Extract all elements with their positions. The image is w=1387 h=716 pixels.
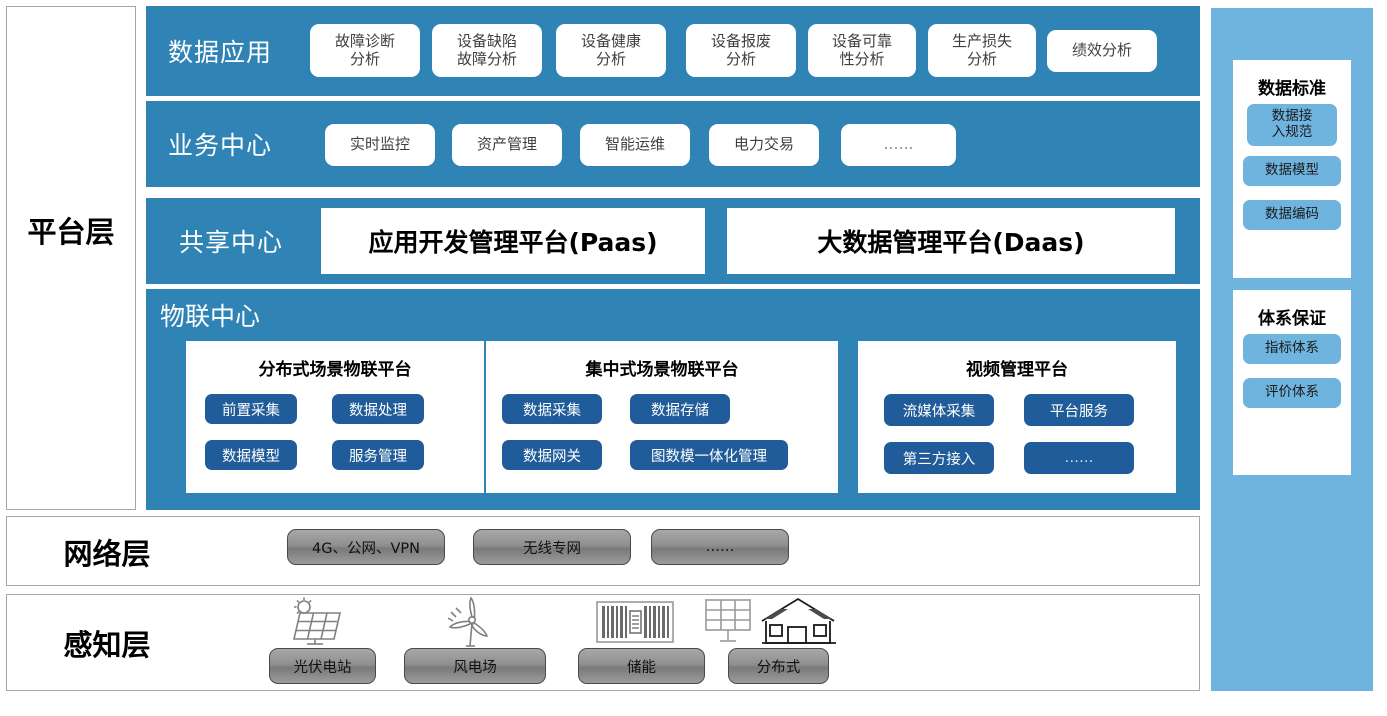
iot-chip-platform-service[interactable]: 平台服务 bbox=[1024, 394, 1134, 426]
sidebar-chip-evaluation-system[interactable]: 评价体系 bbox=[1243, 378, 1341, 408]
iot-chip-data-storage[interactable]: 数据存储 bbox=[630, 394, 730, 424]
iot-chip-data-gateway[interactable]: 数据网关 bbox=[502, 440, 602, 470]
biz-chip-smart-ops[interactable]: 智能运维 bbox=[580, 124, 690, 166]
biz-chip-asset-management[interactable]: 资产管理 bbox=[452, 124, 562, 166]
iot-chip-data-model[interactable]: 数据模型 bbox=[205, 440, 297, 470]
app-chip-equipment-health[interactable]: 设备健康 分析 bbox=[556, 24, 666, 77]
network-layer-title: 网络层 bbox=[14, 534, 200, 570]
iot-card-video: 视频管理平台 流媒体采集 平台服务 第三方接入 …… bbox=[858, 341, 1176, 493]
sidebar-chip-data-encoding[interactable]: 数据编码 bbox=[1243, 200, 1341, 230]
biz-chip-power-trading[interactable]: 电力交易 bbox=[709, 124, 819, 166]
iot-chip-third-party-access[interactable]: 第三方接入 bbox=[884, 442, 994, 474]
iot-chip-data-processing[interactable]: 数据处理 bbox=[332, 394, 424, 424]
iot-card-distributed-title: 分布式场景物联平台 bbox=[186, 355, 484, 380]
biz-chip-realtime-monitoring[interactable]: 实时监控 bbox=[325, 124, 435, 166]
app-chip-equipment-scrap[interactable]: 设备报废 分析 bbox=[686, 24, 796, 77]
iot-chip-stream-acquisition[interactable]: 流媒体采集 bbox=[884, 394, 994, 426]
iot-center-label: 物联中心 bbox=[160, 297, 380, 331]
sidebar-card-system-guarantee: 体系保证 指标体系 评价体系 bbox=[1233, 290, 1351, 475]
app-chip-fault-diagnosis[interactable]: 故障诊断 分析 bbox=[310, 24, 420, 77]
row-business-center-label: 业务中心 bbox=[146, 126, 294, 162]
sidebar-card-system-guarantee-title: 体系保证 bbox=[1233, 304, 1351, 329]
iot-chip-front-acquisition[interactable]: 前置采集 bbox=[205, 394, 297, 424]
iot-chip-video-more[interactable]: …… bbox=[1024, 442, 1134, 474]
row-data-application-label: 数据应用 bbox=[146, 33, 294, 69]
sidebar-card-data-standard-title: 数据标准 bbox=[1233, 74, 1351, 99]
iot-chip-service-management[interactable]: 服务管理 bbox=[332, 440, 424, 470]
app-chip-performance-analysis[interactable]: 绩效分析 bbox=[1047, 30, 1157, 72]
iot-chip-data-acquisition[interactable]: 数据采集 bbox=[502, 394, 602, 424]
solar-house-icon bbox=[702, 597, 844, 647]
app-chip-equipment-reliability[interactable]: 设备可靠 性分析 bbox=[808, 24, 916, 77]
iot-card-centralized: 集中式场景物联平台 数据采集 数据存储 数据网关 图数模一体化管理 bbox=[486, 341, 838, 493]
iot-card-video-title: 视频管理平台 bbox=[858, 355, 1176, 380]
app-chip-production-loss[interactable]: 生产损失 分析 bbox=[928, 24, 1036, 77]
iot-card-distributed: 分布式场景物联平台 前置采集 数据处理 数据模型 服务管理 bbox=[186, 341, 484, 493]
standards-sidebar: 数据标准 数据接 入规范 数据模型 数据编码 体系保证 指标体系 评价体系 bbox=[1211, 8, 1373, 691]
perception-chip-pv-station[interactable]: 光伏电站 bbox=[269, 648, 376, 684]
platform-layer-frame bbox=[6, 6, 136, 510]
iot-card-centralized-title: 集中式场景物联平台 bbox=[486, 355, 838, 380]
app-chip-equipment-defect[interactable]: 设备缺陷 故障分析 bbox=[432, 24, 542, 77]
sidebar-chip-data-model[interactable]: 数据模型 bbox=[1243, 156, 1341, 186]
row-shared-center-label: 共享中心 bbox=[146, 223, 316, 259]
sidebar-chip-indicator-system[interactable]: 指标体系 bbox=[1243, 334, 1341, 364]
shared-card-paas[interactable]: 应用开发管理平台(Paas) bbox=[321, 208, 705, 274]
battery-storage-icon bbox=[596, 601, 674, 643]
sidebar-card-data-standard: 数据标准 数据接 入规范 数据模型 数据编码 bbox=[1233, 60, 1351, 278]
perception-chip-energy-storage[interactable]: 储能 bbox=[578, 648, 705, 684]
iot-chip-graph-data-model-integration[interactable]: 图数模一体化管理 bbox=[630, 440, 788, 470]
row-data-application: 数据应用 bbox=[146, 6, 1200, 96]
network-chip-wireless-private[interactable]: 无线专网 bbox=[473, 529, 631, 565]
perception-chip-distributed[interactable]: 分布式 bbox=[728, 648, 829, 684]
shared-card-daas[interactable]: 大数据管理平台(Daas) bbox=[727, 208, 1175, 274]
wind-turbine-icon bbox=[440, 596, 502, 648]
sidebar-chip-data-access-spec[interactable]: 数据接 入规范 bbox=[1247, 104, 1337, 146]
platform-layer-title: 平台层 bbox=[6, 210, 136, 250]
solar-panel-sun-icon bbox=[282, 597, 352, 647]
perception-chip-wind-farm[interactable]: 风电场 bbox=[404, 648, 546, 684]
perception-layer-title: 感知层 bbox=[14, 624, 200, 662]
biz-chip-more[interactable]: …… bbox=[841, 124, 956, 166]
network-chip-more[interactable]: …… bbox=[651, 529, 789, 565]
architecture-diagram: 平台层 数据应用 故障诊断 分析 设备缺陷 故障分析 设备健康 分析 设备报废 … bbox=[0, 0, 1387, 716]
network-chip-4g-public-vpn[interactable]: 4G、公网、VPN bbox=[287, 529, 445, 565]
